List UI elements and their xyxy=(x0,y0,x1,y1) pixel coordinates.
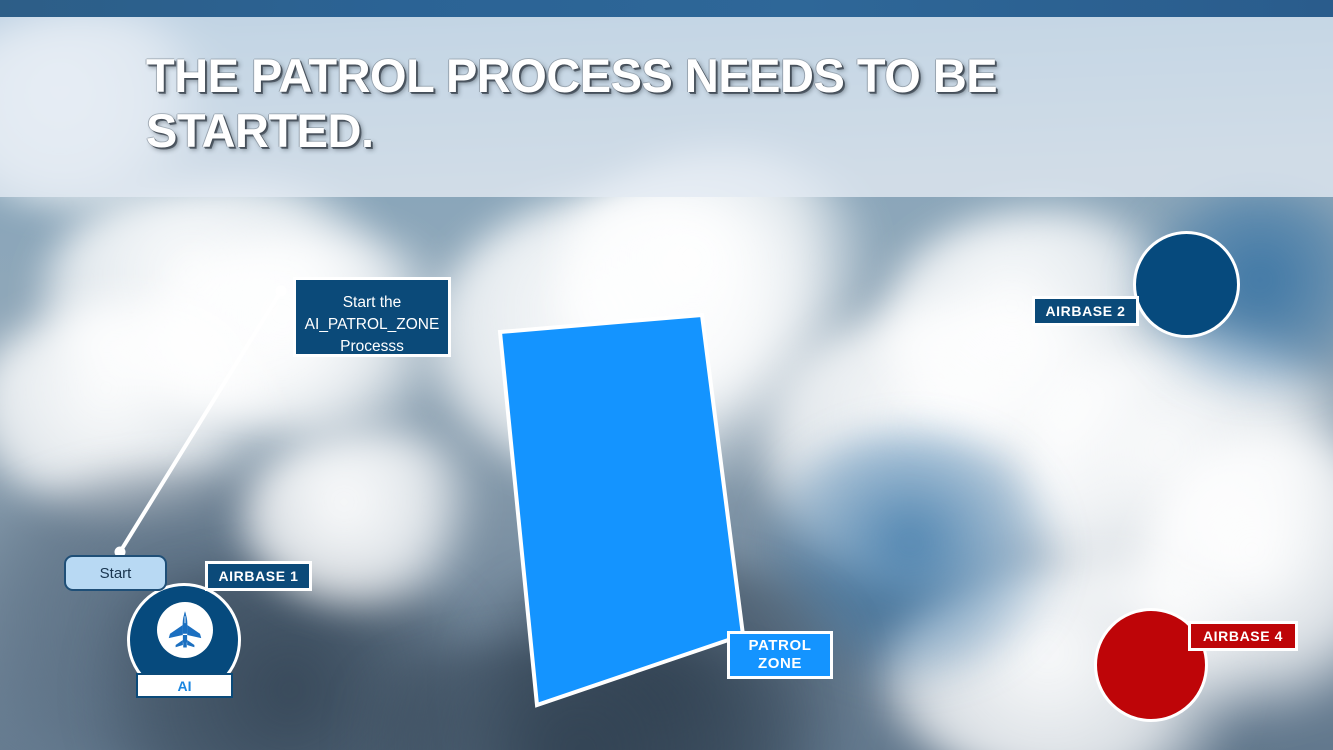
start-process-callout[interactable]: Start the AI_PATROL_ZONE Processs xyxy=(293,277,451,357)
patrol-zone-polygon[interactable] xyxy=(500,315,743,705)
fighter-jet-icon xyxy=(165,610,205,650)
connector-line xyxy=(120,291,281,552)
patrol-zone-label-line2: ZONE xyxy=(748,655,811,673)
airbase-2-label[interactable]: AIRBASE 2 xyxy=(1032,296,1139,326)
presentation-slide: THE PATROL PROCESS NEEDS TO BE STARTED. … xyxy=(0,0,1333,750)
airbase-4-label[interactable]: AIRBASE 4 xyxy=(1188,621,1298,651)
fighter-jet-badge xyxy=(157,602,213,658)
connector-endpoint-dot xyxy=(276,286,287,297)
patrol-zone-label[interactable]: PATROL ZONE xyxy=(727,631,833,679)
airbase-1-label[interactable]: AIRBASE 1 xyxy=(205,561,312,591)
start-button[interactable]: Start xyxy=(64,555,167,591)
airbase-2-node[interactable] xyxy=(1133,231,1240,338)
patrol-zone-label-line1: PATROL xyxy=(748,637,811,655)
airbase-1-unit-label[interactable]: AI xyxy=(136,673,233,698)
